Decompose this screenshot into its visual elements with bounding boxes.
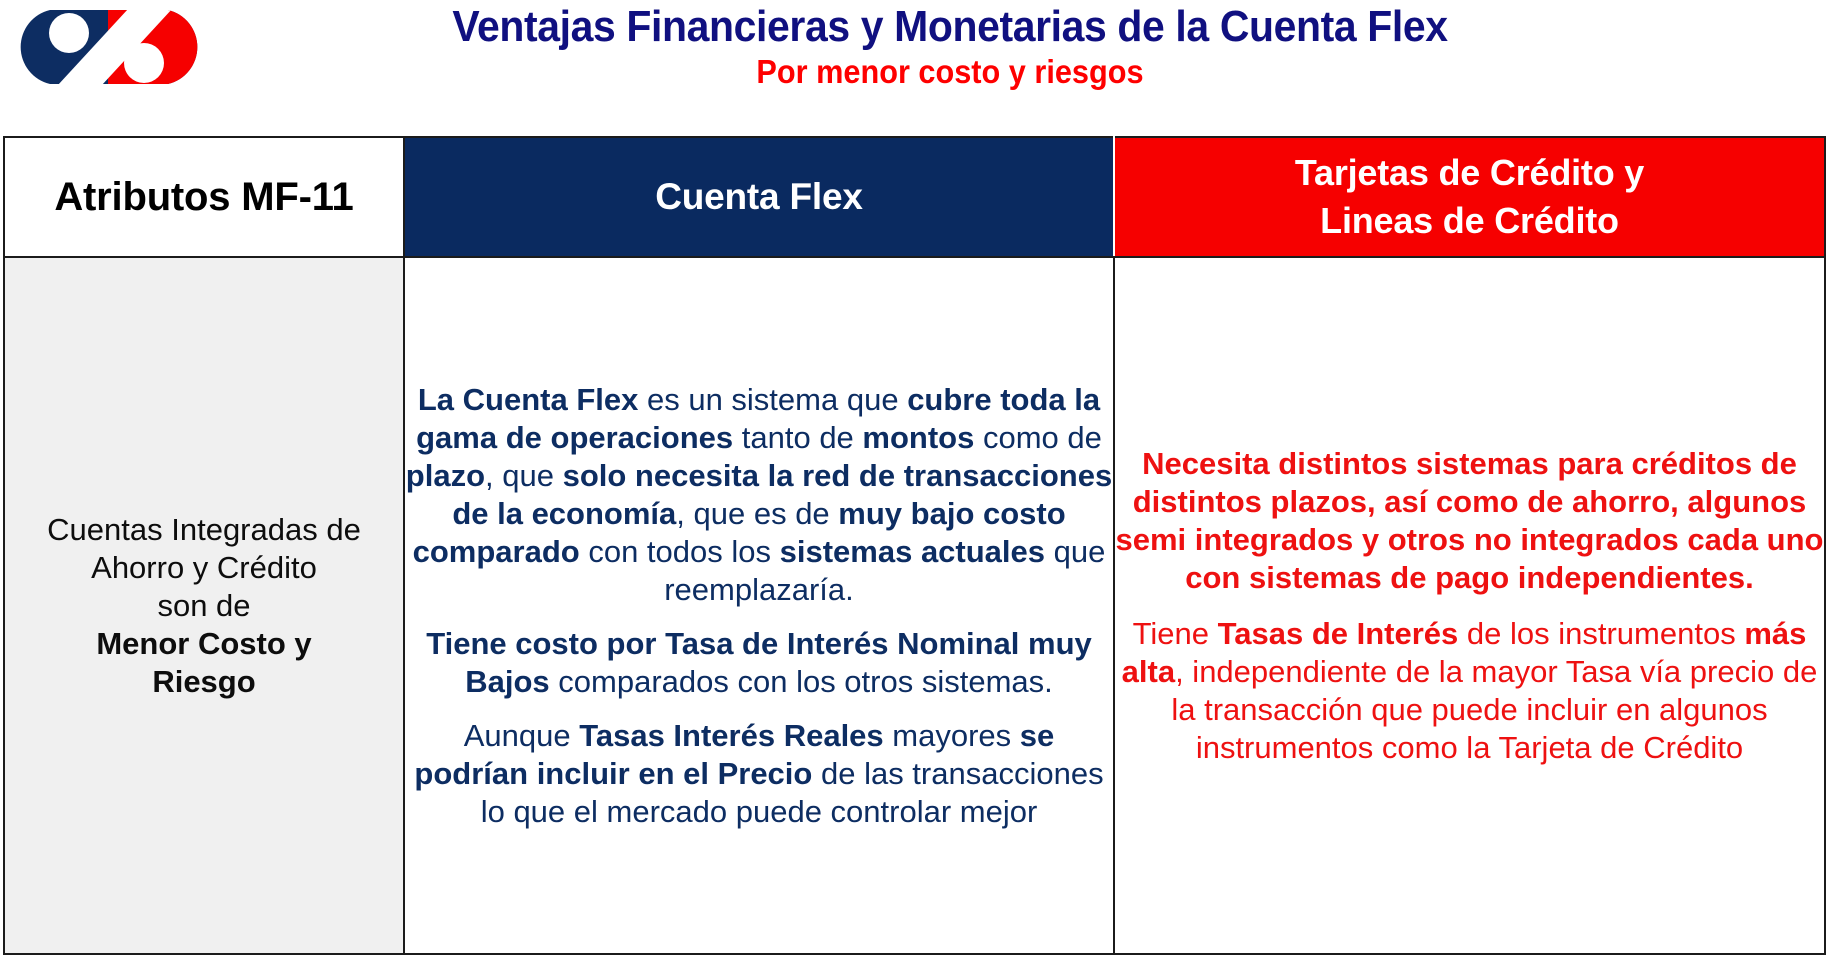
paragraph-3: Aunque Tasas Interés Reales mayores se p… bbox=[405, 717, 1113, 831]
page-header: Ventajas Financieras y Monetarias de la … bbox=[0, 0, 1827, 112]
cell-attributes: Cuentas Integradas de Ahorro y Crédito s… bbox=[4, 257, 404, 954]
attributes-line-5: Riesgo bbox=[5, 663, 403, 701]
attributes-line-1: Cuentas Integradas de bbox=[5, 511, 403, 549]
attributes-text: Cuentas Integradas de Ahorro y Crédito s… bbox=[5, 511, 403, 701]
header-cell-tarjetas: Tarjetas de Crédito y Lineas de Crédito bbox=[1114, 137, 1825, 257]
header-cell-attributes: Atributos MF-11 bbox=[4, 137, 404, 257]
logo-mark bbox=[8, 6, 204, 88]
paragraph-1: La Cuenta Flex es un sistema que cubre t… bbox=[405, 381, 1113, 609]
attributes-line-3: son de bbox=[5, 587, 403, 625]
paragraph-2: Tiene Tasas de Interés de los instrument… bbox=[1115, 615, 1824, 767]
paragraph-1: Necesita distintos sistemas para crédito… bbox=[1115, 445, 1824, 597]
header-label-tarjetas-line2: Lineas de Crédito bbox=[1115, 197, 1824, 245]
attributes-line-4: Menor Costo y bbox=[5, 625, 403, 663]
header-cell-cuenta-flex: Cuenta Flex bbox=[404, 137, 1114, 257]
table-header-row: Atributos MF-11 Cuenta Flex Tarjetas de … bbox=[4, 137, 1825, 257]
header-label-cuenta-flex: Cuenta Flex bbox=[405, 176, 1113, 218]
page-subtitle: Por menor costo y riesgos bbox=[299, 53, 1601, 91]
header-label-tarjetas: Tarjetas de Crédito y Lineas de Crédito bbox=[1115, 149, 1824, 245]
comparison-table: Atributos MF-11 Cuenta Flex Tarjetas de … bbox=[3, 136, 1826, 955]
title-block: Ventajas Financieras y Monetarias de la … bbox=[250, 2, 1650, 91]
cell-cuenta-flex: La Cuenta Flex es un sistema que cubre t… bbox=[404, 257, 1114, 954]
cuenta-flex-text: La Cuenta Flex es un sistema que cubre t… bbox=[405, 381, 1113, 831]
table-body-row: Cuentas Integradas de Ahorro y Crédito s… bbox=[4, 257, 1825, 954]
corporate-logo bbox=[8, 6, 204, 88]
header-label-attributes: Atributos MF-11 bbox=[5, 175, 403, 220]
paragraph-2: Tiene costo por Tasa de Interés Nominal … bbox=[405, 625, 1113, 701]
tarjetas-text: Necesita distintos sistemas para crédito… bbox=[1115, 445, 1824, 767]
page-title: Ventajas Financieras y Monetarias de la … bbox=[299, 2, 1601, 52]
cell-tarjetas: Necesita distintos sistemas para crédito… bbox=[1114, 257, 1825, 954]
attributes-line-2: Ahorro y Crédito bbox=[5, 549, 403, 587]
header-label-tarjetas-line1: Tarjetas de Crédito y bbox=[1115, 149, 1824, 197]
